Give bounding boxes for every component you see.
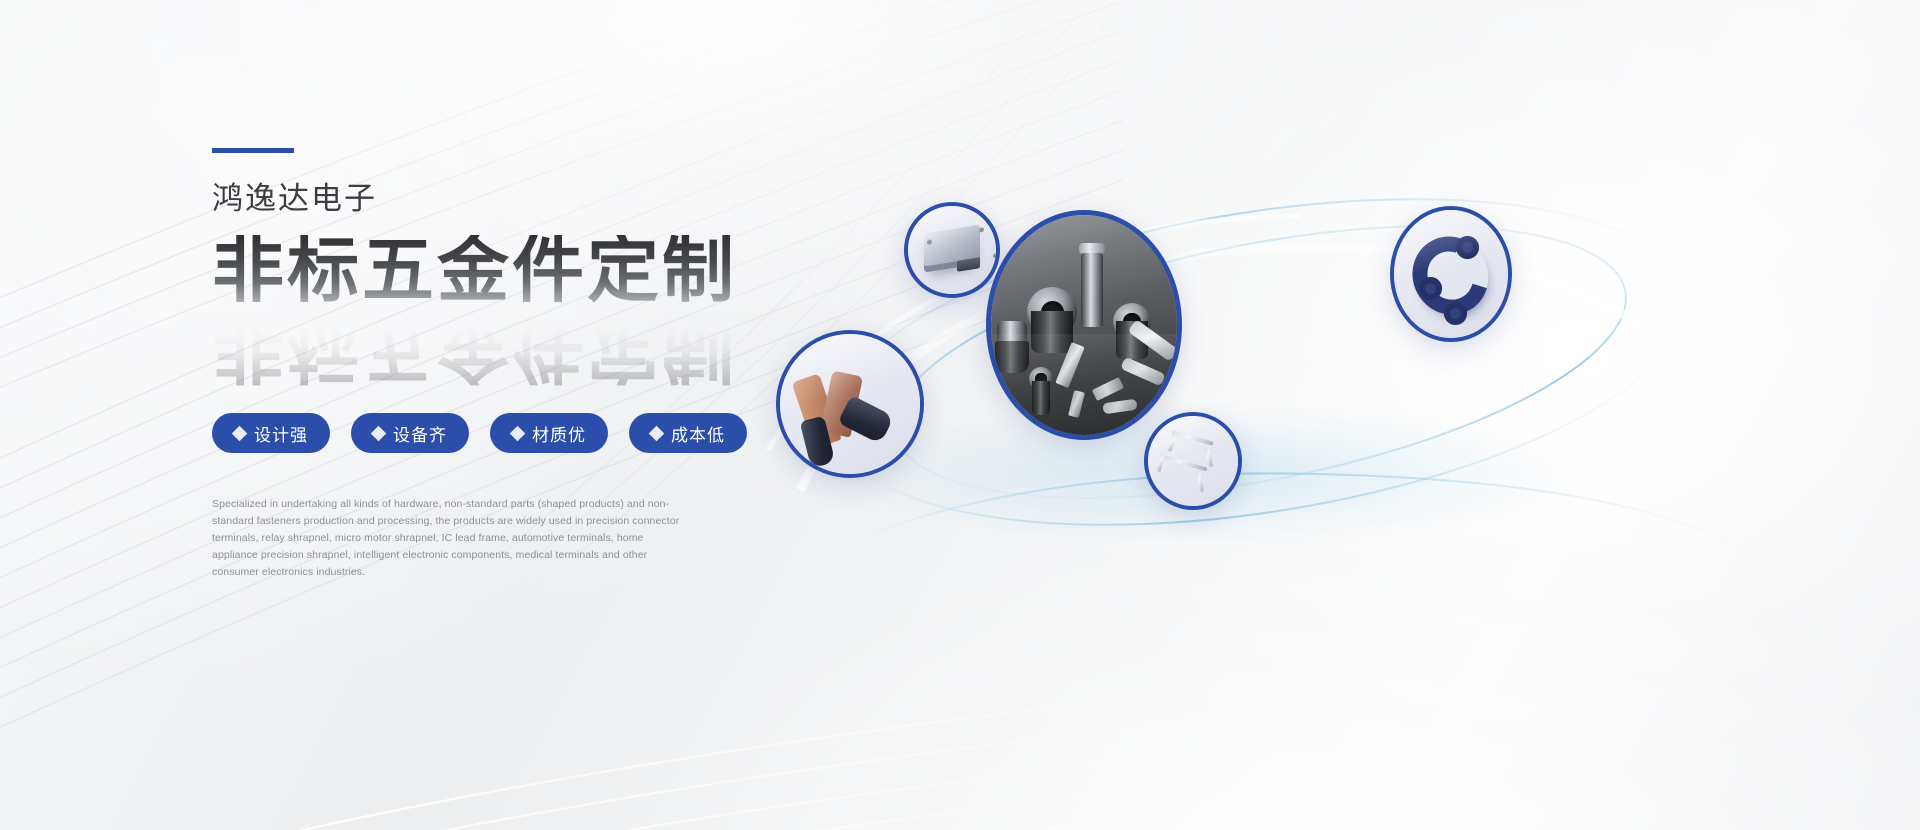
bubble-precision-parts-group[interactable] xyxy=(986,210,1182,440)
part-bracket xyxy=(1120,357,1165,387)
feature-tag-design[interactable]: 设计强 xyxy=(212,413,330,453)
feature-tag-material[interactable]: 材质优 xyxy=(490,413,608,453)
accent-rule xyxy=(212,148,294,153)
diamond-icon xyxy=(510,425,526,441)
diamond-icon xyxy=(232,425,248,441)
headline-reflection: 非标五金件定制 xyxy=(212,312,737,385)
part-terminal-c xyxy=(1102,399,1137,415)
ring-lug xyxy=(1419,277,1442,300)
part-small-socket xyxy=(1029,367,1053,391)
bubble-retaining-ring[interactable] xyxy=(1390,206,1512,342)
feature-tag-label: 设备齐 xyxy=(393,421,447,446)
hero-banner: 鸿逸达电子 非标五金件定制 非标五金件定制 设计强 设备齐 材质优 成本低 xyxy=(0,0,1920,830)
feature-tag-label: 成本低 xyxy=(671,421,725,446)
description-paragraph: Specialized in undertaking all kinds of … xyxy=(212,496,682,581)
part-terminal-a xyxy=(1068,390,1085,418)
feature-tag-cost[interactable]: 成本低 xyxy=(629,413,747,453)
feature-tag-label: 设计强 xyxy=(254,421,308,446)
part-lever-arm xyxy=(1128,319,1179,362)
part-small-socket-body xyxy=(1032,381,1050,415)
part-tall-cylinder xyxy=(1081,253,1103,327)
part-terminal-b xyxy=(1092,377,1124,401)
bubble-bent-contact-pins[interactable] xyxy=(1144,412,1242,510)
bubble-alligator-clamp[interactable] xyxy=(776,330,924,478)
part-connector-body xyxy=(995,341,1029,373)
feature-tag-label: 材质优 xyxy=(532,421,586,446)
product-showcase xyxy=(740,150,1760,570)
feature-tag-equipment[interactable]: 设备齐 xyxy=(351,413,469,453)
ring-lug xyxy=(1456,236,1479,259)
part-bushing-body xyxy=(1031,311,1073,353)
part-connector-head xyxy=(997,321,1027,343)
diamond-icon xyxy=(649,425,665,441)
diamond-icon xyxy=(371,425,387,441)
product-plate xyxy=(991,215,1177,435)
bubble-metal-enclosure-box[interactable] xyxy=(904,202,1000,298)
part-threaded-stud xyxy=(1055,342,1084,388)
